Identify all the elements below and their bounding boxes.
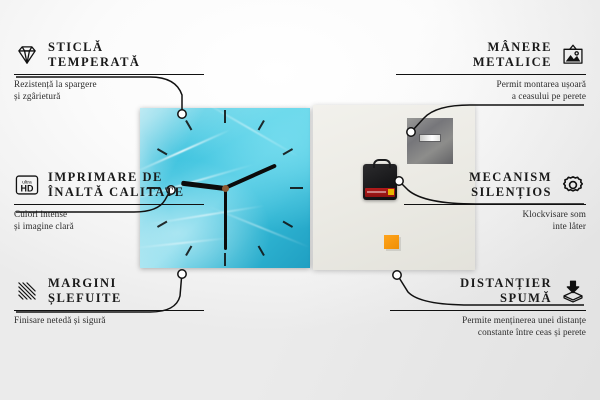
feature-description: Culori intense și imagine clară: [14, 209, 204, 233]
feature-divider: [14, 204, 204, 206]
connector-dot: [407, 128, 415, 136]
feature-mechanism: MECANISM SILENȚIOS Klockvisare som inte …: [404, 170, 586, 233]
feature-header: ultra HD IMPRIMARE DE ÎNALTĂ CALITATE: [14, 170, 204, 200]
feature-title: STICLĂ TEMPERATĂ: [48, 40, 140, 70]
feature-header: MECANISM SILENȚIOS: [404, 170, 586, 200]
feature-title: MÂNERE METALICE: [473, 40, 552, 70]
feature-handles: MÂNERE METALICE Permit montarea ușoară a…: [396, 40, 586, 103]
feature-divider: [14, 74, 204, 76]
infographic-canvas: STICLĂ TEMPERATĂ Rezistență la spargere …: [0, 0, 600, 400]
feature-description: Finisare netedă și sigură: [14, 315, 204, 327]
feature-header: MARGINI ȘLEFUITE: [14, 276, 204, 306]
picture-frame-icon: [560, 43, 586, 67]
feature-spacer: DISTANȚIER SPUMĂ Permite menținerea unei…: [390, 276, 586, 339]
polished-edges-icon: [14, 279, 40, 303]
gear-icon: [560, 173, 586, 197]
feature-divider: [396, 74, 586, 76]
feature-header: STICLĂ TEMPERATĂ: [14, 40, 204, 70]
feature-description: Klockvisare som inte låter: [404, 209, 586, 233]
feature-glass: STICLĂ TEMPERATĂ Rezistență la spargere …: [14, 40, 204, 103]
feature-divider: [390, 310, 586, 312]
diamond-icon: [14, 43, 40, 67]
feature-description: Permit montarea ușoară a ceasului pe per…: [396, 79, 586, 103]
foam-spacer-icon: [560, 279, 586, 303]
feature-print: ultra HD IMPRIMARE DE ÎNALTĂ CALITATE Cu…: [14, 170, 204, 233]
feature-title: MARGINI ȘLEFUITE: [48, 276, 122, 306]
feature-edges: MARGINI ȘLEFUITE Finisare netedă și sigu…: [14, 276, 204, 327]
feature-title: IMPRIMARE DE ÎNALTĂ CALITATE: [48, 170, 185, 200]
connector-dot: [395, 177, 403, 185]
ultra-hd-icon: ultra HD: [14, 173, 40, 197]
feature-description: Permite menținerea unei distanțe constan…: [390, 315, 586, 339]
feature-header: DISTANȚIER SPUMĂ: [390, 276, 586, 306]
connector-dot: [178, 110, 186, 118]
feature-title: DISTANȚIER SPUMĂ: [460, 276, 552, 306]
ultra-hd-icon-large-text: HD: [21, 183, 34, 193]
feature-divider: [404, 204, 586, 206]
feature-description: Rezistență la spargere și zgârietură: [14, 79, 204, 103]
feature-title: MECANISM SILENȚIOS: [469, 170, 552, 200]
feature-header: MÂNERE METALICE: [396, 40, 586, 70]
feature-divider: [14, 310, 204, 312]
